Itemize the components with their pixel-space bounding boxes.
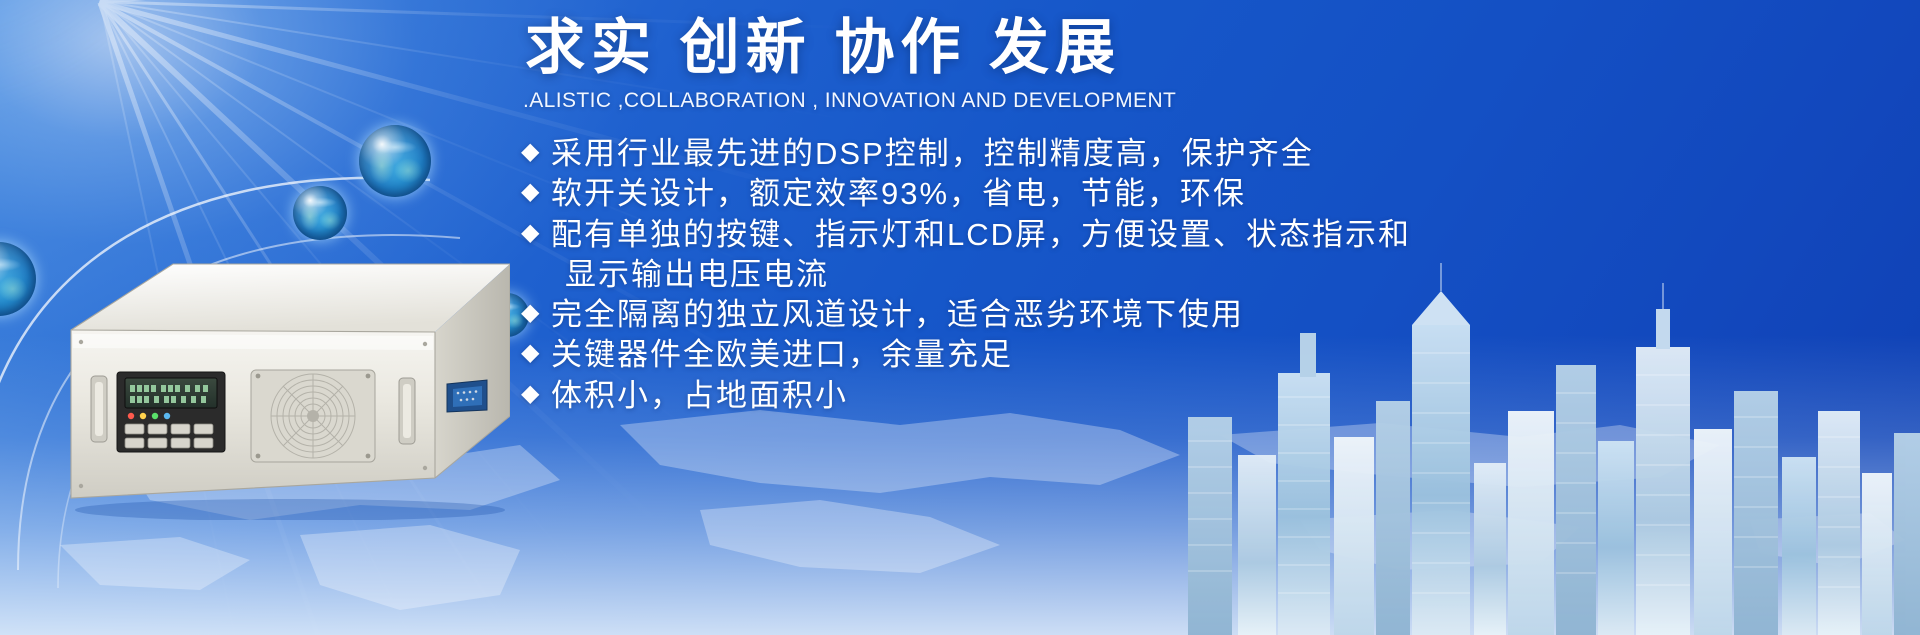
list-item-label: 关键器件全欧美进口，余量充足 <box>551 335 1013 375</box>
lcd-display <box>125 378 217 408</box>
page-title: 求实 创新 协作 发展 <box>515 18 1905 78</box>
list-item: ◆ 完全隔离的独立风道设计，适合恶劣环境下使用 <box>521 295 1905 335</box>
list-item-label: 软开关设计，额定效率93%，省电，节能，环保 <box>551 174 1246 214</box>
bullet-diamond-icon: ◆ <box>521 335 551 371</box>
globe-icon <box>359 125 431 197</box>
vga-port <box>447 380 487 412</box>
list-item-label: 显示输出电压电流 <box>551 255 829 295</box>
list-item: ◆ 配有单独的按键、指示灯和LCD屏，方便设置、状态指示和 <box>521 215 1905 255</box>
bullet-diamond-icon: ◆ <box>521 376 551 412</box>
promo-banner: 求实 创新 协作 发展 .ALISTIC ,COLLABORATION , IN… <box>0 0 1920 635</box>
led-indicator <box>140 413 146 419</box>
subtitle: .ALISTIC ,COLLABORATION , INNOVATION AND… <box>515 90 1905 111</box>
list-item-label: 采用行业最先进的DSP控制，控制精度高，保护齐全 <box>551 134 1314 174</box>
list-item: ◆ 关键器件全欧美进口，余量充足 <box>521 335 1905 375</box>
list-item: ◆ 软开关设计，额定效率93%，省电，节能，环保 <box>521 174 1905 214</box>
bullet-diamond-icon: ◆ <box>521 134 551 170</box>
led-indicator <box>152 413 158 419</box>
led-indicator <box>128 413 134 419</box>
bullet-diamond-icon: ◆ <box>521 215 551 251</box>
text-column: 求实 创新 协作 发展 .ALISTIC ,COLLABORATION , IN… <box>515 18 1905 416</box>
rackmount-power-supply <box>55 258 510 520</box>
list-item: ◆ 体积小，占地面积小 <box>521 376 1905 416</box>
feature-list: ◆ 采用行业最先进的DSP控制，控制精度高，保护齐全 ◆ 软开关设计，额定效率9… <box>515 134 1905 416</box>
fan-grille <box>251 370 375 462</box>
list-item-continuation: ◆ 显示输出电压电流 <box>521 255 1905 295</box>
list-item: ◆ 采用行业最先进的DSP控制，控制精度高，保护齐全 <box>521 134 1905 174</box>
list-item-label: 体积小，占地面积小 <box>551 376 848 416</box>
list-item-label: 配有单独的按键、指示灯和LCD屏，方便设置、状态指示和 <box>551 215 1411 255</box>
bullet-diamond-icon: ◆ <box>521 295 551 331</box>
list-item-label: 完全隔离的独立风道设计，适合恶劣环境下使用 <box>551 295 1244 335</box>
globe-icon <box>293 186 347 240</box>
bullet-diamond-icon: ◆ <box>521 174 551 210</box>
led-indicator <box>164 413 170 419</box>
